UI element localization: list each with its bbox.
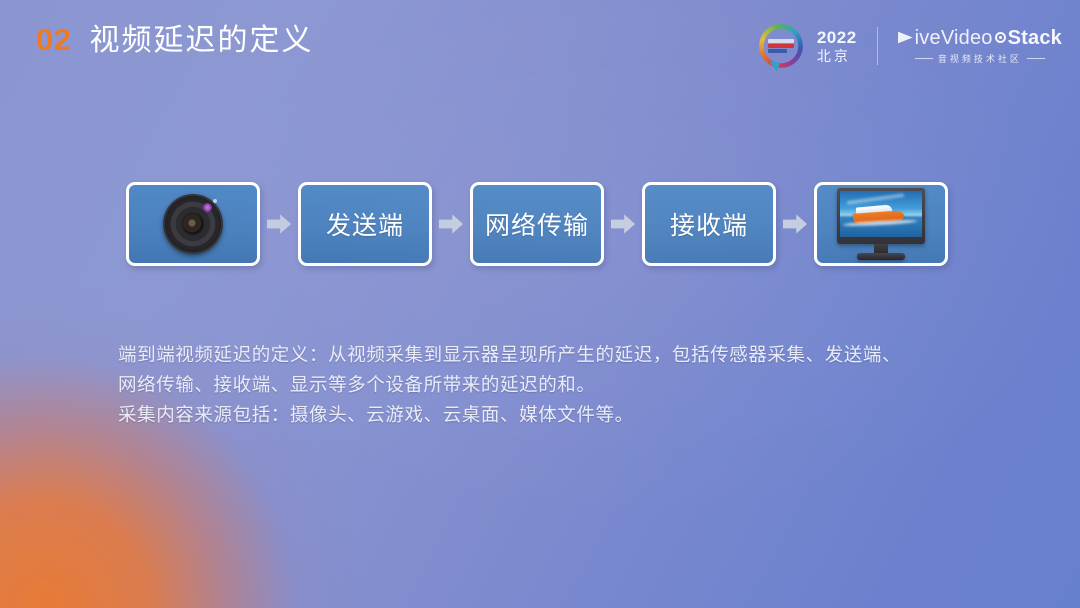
- flow-node-sender: 发送端: [298, 182, 432, 266]
- conference-city: 北京: [817, 48, 857, 64]
- section-title-text: 视频延迟的定义: [89, 26, 313, 56]
- badge-inner-mark-icon: [768, 37, 794, 55]
- monitor-display-icon: [833, 188, 929, 260]
- screen-sky-streak: [847, 193, 904, 205]
- logo-divider: [877, 27, 878, 65]
- flow-node-sender-label: 发送端: [326, 206, 404, 242]
- target-dot-icon: [995, 32, 1006, 43]
- lens-flare-icon: [203, 203, 212, 212]
- section-number: 02: [36, 24, 71, 55]
- flow-node-network-label: 网络传输: [485, 206, 589, 242]
- definition-body-text: 端到端视频延迟的定义：从视频采集到显示器呈现所产生的延迟，包括传感器采集、发送端…: [118, 340, 1018, 430]
- flow-node-network: 网络传输: [470, 182, 604, 266]
- wordmark-ive: ive: [915, 28, 941, 48]
- livevideostack-circle-badge-icon: [759, 24, 803, 68]
- monitor-bezel: [837, 188, 925, 244]
- flow-arrow-2: [432, 213, 470, 235]
- video-latency-flow-diagram: 发送端 网络传输 接收端: [126, 182, 948, 266]
- flow-arrow-4: [776, 213, 814, 235]
- wordmark-dash-right: [1027, 58, 1045, 59]
- body-line-1: 端到端视频延迟的定义：从视频采集到显示器呈现所产生的延迟，包括传感器采集、发送端…: [118, 340, 1018, 370]
- play-icon: [898, 32, 913, 44]
- wordmark-video: Video: [941, 28, 993, 48]
- flow-node-display: [814, 182, 948, 266]
- arrow-right-icon: [611, 213, 635, 235]
- conference-logo-block: 2022 北京 ive Video Stack 音视频技术社区: [759, 24, 1062, 68]
- flow-node-camera: [126, 182, 260, 266]
- monitor-screen-content: [840, 191, 922, 237]
- flow-arrow-1: [260, 213, 298, 235]
- camera-lens-icon: [163, 194, 223, 254]
- body-line-2: 网络传输、接收端、显示等多个设备所带来的延迟的和。: [118, 370, 1018, 400]
- conference-year-city: 2022 北京: [817, 28, 857, 64]
- badge-speech-tail-icon: [768, 61, 780, 71]
- page-title: 02 视频延迟的定义: [36, 24, 313, 56]
- wordmark-dash-left: [915, 58, 933, 59]
- conference-year: 2022: [817, 28, 857, 48]
- monitor-stand-base: [857, 253, 905, 260]
- wordmark-subtitle: 音视频技术社区: [938, 52, 1022, 65]
- arrow-right-icon: [783, 213, 807, 235]
- flow-node-receiver-label: 接收端: [670, 206, 748, 242]
- livevideostack-wordmark: ive Video Stack 音视频技术社区: [898, 28, 1062, 65]
- slide-canvas: 02 视频延迟的定义 2022 北京 ive Video: [0, 0, 1080, 608]
- flow-node-receiver: 接收端: [642, 182, 776, 266]
- arrow-right-icon: [267, 213, 291, 235]
- body-line-3: 采集内容来源包括：摄像头、云游戏、云桌面、媒体文件等。: [118, 400, 1018, 430]
- wordmark-stack: Stack: [1008, 28, 1062, 48]
- slide-header: 02 视频延迟的定义 2022 北京 ive Video: [0, 0, 1080, 92]
- flow-arrow-3: [604, 213, 642, 235]
- lens-highlight-icon: [213, 199, 217, 203]
- arrow-right-icon: [439, 213, 463, 235]
